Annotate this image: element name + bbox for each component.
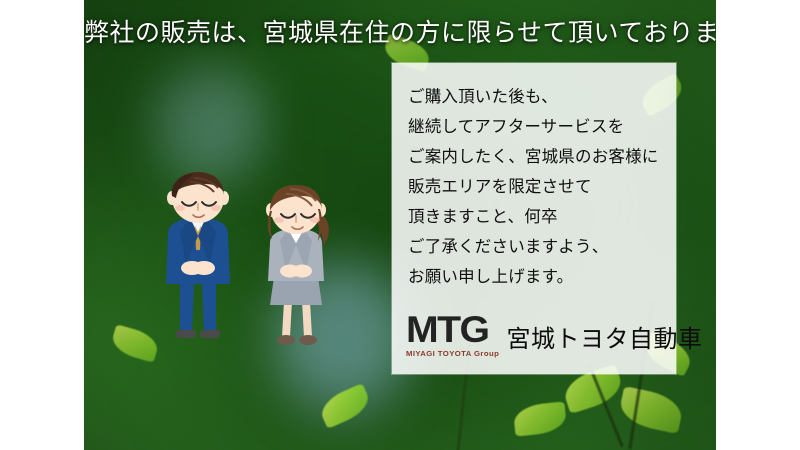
company-logo: MTG MIYAGI TOYOTA Group 宮城トヨタ自動車 xyxy=(406,313,703,358)
bowing-businesswoman xyxy=(248,185,344,357)
message-line: ご購入頂いた後も、 xyxy=(408,82,668,112)
bowing-businessman xyxy=(146,172,250,354)
logo-mtg-text: MTG xyxy=(406,313,502,347)
message-line: お願い申し上げます。 xyxy=(408,262,668,292)
message-panel: ご購入頂いた後も、 継続してアフターサービスを ご案内したく、宮城県のお客様に … xyxy=(392,63,676,374)
message-line: 頂きますこと、何卒 xyxy=(408,202,668,232)
company-name: 宮城トヨタ自動車 xyxy=(507,328,703,358)
message-line: ご案内したく、宮城県のお客様に xyxy=(408,142,668,172)
letterbox-right xyxy=(716,0,800,450)
message-line: 継続してアフターサービスを xyxy=(408,112,668,142)
letterbox-left xyxy=(0,0,84,450)
message-line: ご了承くださいますよう、 xyxy=(408,232,668,262)
logo-mark: MTG MIYAGI TOYOTA Group xyxy=(406,313,497,358)
slide-canvas: 弊社の販売は、宮城県在住の方に限らせて頂いております。 ご購入頂いた後も、 継続… xyxy=(0,0,800,450)
logo-subtitle: MIYAGI TOYOTA Group xyxy=(406,349,499,358)
message-body: ご購入頂いた後も、 継続してアフターサービスを ご案内したく、宮城県のお客様に … xyxy=(408,82,668,292)
message-line: 販売エリアを限定させて xyxy=(408,172,668,202)
page-title: 弊社の販売は、宮城県在住の方に限らせて頂いております。 xyxy=(84,16,716,50)
